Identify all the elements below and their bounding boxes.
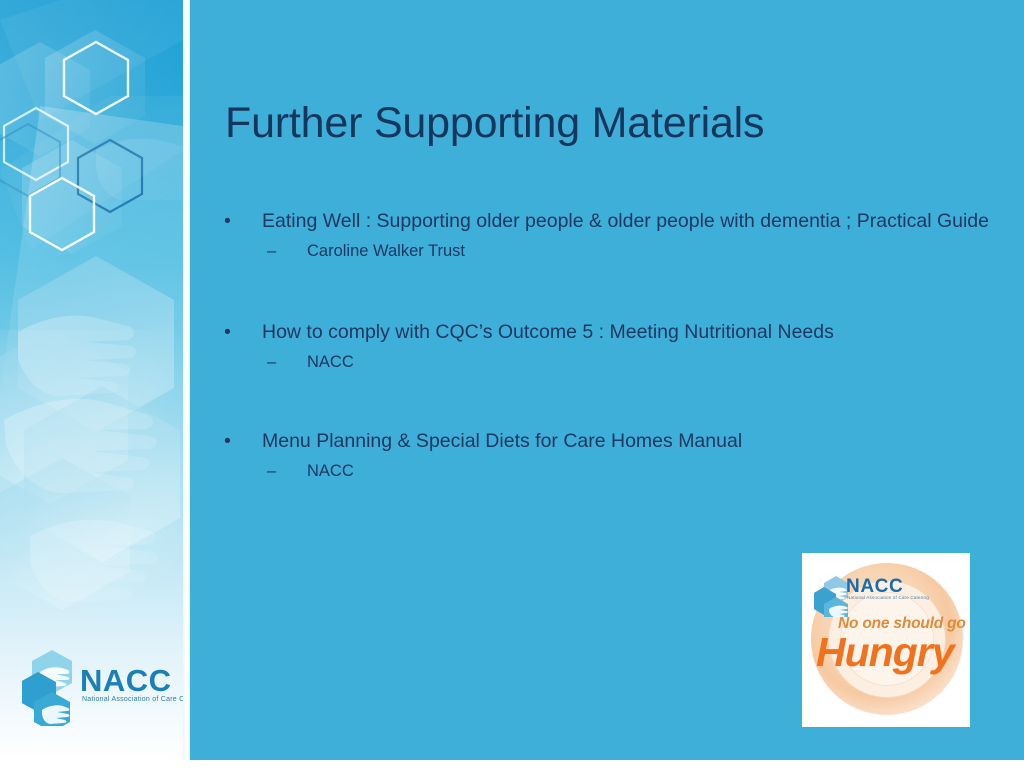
list-item-text: Eating Well : Supporting older people & … — [262, 206, 1018, 236]
hungry-tagline-main: Hungry — [816, 629, 954, 676]
sub-list-item-text: Caroline Walker Trust — [307, 242, 465, 260]
bullet-marker-icon: • — [224, 206, 231, 236]
list-item: • Menu Planning & Special Diets for Care… — [218, 426, 1018, 456]
bullet-group: • How to comply with CQC’s Outcome 5 : M… — [218, 317, 1018, 376]
hungry-logo-brand-subtitle: National Association of Care Catering — [847, 595, 929, 600]
hexagon-pattern-icon — [0, 0, 183, 760]
bullet-marker-icon: • — [224, 317, 231, 347]
list-item-text: Menu Planning & Special Diets for Care H… — [262, 426, 1018, 456]
list-item: • Eating Well : Supporting older people … — [218, 206, 1018, 236]
slide-sidebar-decoration: NACC National Association of Care Cateri… — [0, 0, 183, 760]
list-item: • How to comply with CQC’s Outcome 5 : M… — [218, 317, 1018, 347]
sidebar-separator — [183, 0, 190, 760]
sub-list-item: – Caroline Walker Trust — [218, 238, 1018, 265]
dash-marker-icon: – — [267, 458, 276, 485]
sub-list-item-text: NACC — [307, 462, 354, 480]
group-spacer — [218, 281, 1018, 317]
nacc-logo: NACC National Association of Care Cateri… — [22, 648, 172, 726]
group-spacer — [218, 392, 1018, 426]
page-title: Further Supporting Materials — [225, 97, 995, 149]
slide-content-area: Further Supporting Materials • Eating We… — [190, 0, 1024, 760]
hungry-campaign-logo: NACC National Association of Care Cateri… — [802, 553, 970, 727]
sub-list-item: – NACC — [218, 458, 1018, 485]
nacc-logo-wordmark: NACC — [80, 665, 172, 696]
nacc-logo-subtitle: National Association of Care Catering — [82, 696, 183, 703]
dash-marker-icon: – — [267, 349, 276, 376]
bullet-group: • Menu Planning & Special Diets for Care… — [218, 426, 1018, 485]
sub-list-item-text: NACC — [307, 353, 354, 371]
bullet-group: • Eating Well : Supporting older people … — [218, 206, 1018, 265]
list-item-text: How to comply with CQC’s Outcome 5 : Mee… — [262, 317, 1018, 347]
dash-marker-icon: – — [267, 238, 276, 265]
bullet-list: • Eating Well : Supporting older people … — [218, 206, 1018, 501]
sub-list-item: – NACC — [218, 349, 1018, 376]
presentation-slide: NACC National Association of Care Cateri… — [0, 0, 1024, 768]
bullet-marker-icon: • — [224, 426, 231, 456]
nacc-hexagon-hands-icon — [22, 648, 80, 726]
